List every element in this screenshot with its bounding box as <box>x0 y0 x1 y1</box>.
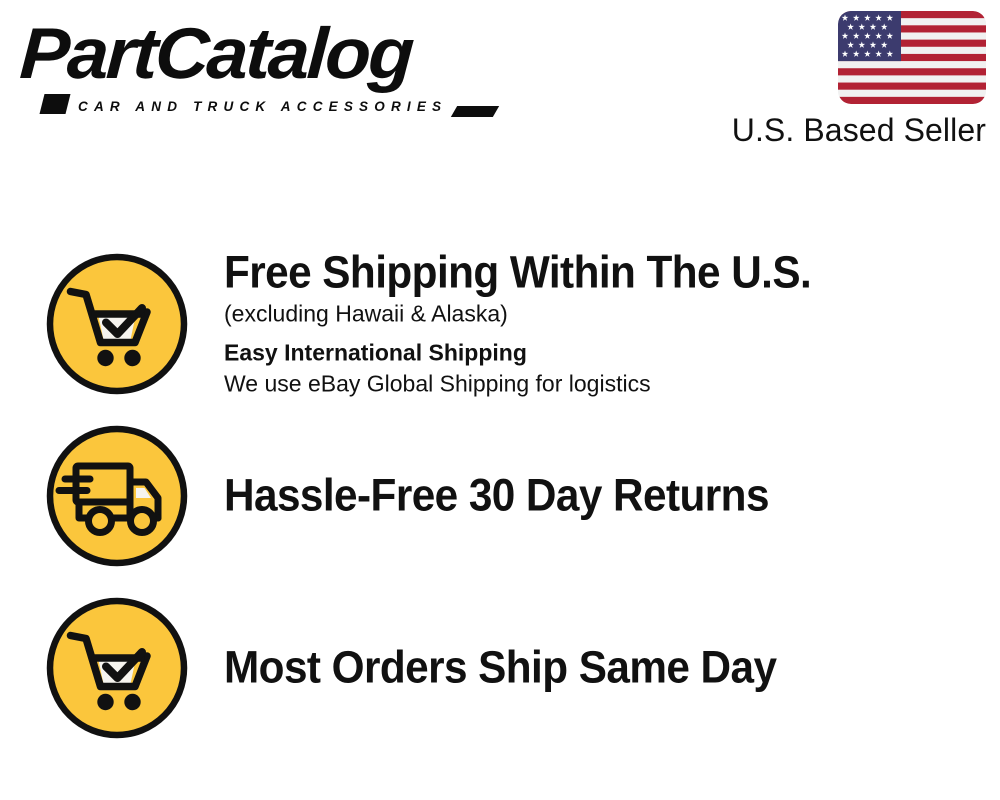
feature-row: Most Orders Ship Same Day <box>0 582 1000 754</box>
feature-text-block: Hassle-Free 30 Day Returns <box>224 472 984 521</box>
logo-descender-mark-right <box>451 106 499 117</box>
us-flag-icon <box>838 11 986 104</box>
shopping-cart-check-icon <box>43 250 191 398</box>
feature-text-block: Free Shipping Within The U.S. (excluding… <box>224 249 984 400</box>
feature-row: Free Shipping Within The U.S. (excluding… <box>0 238 1000 410</box>
feature-subline: (excluding Hawaii & Alaska) <box>224 298 984 328</box>
logo-descender-mark-left <box>40 94 71 114</box>
logo-tagline: CAR AND TRUCK ACCESSORIES <box>78 100 447 114</box>
feature-row: Hassle-Free 30 Day Returns <box>0 410 1000 582</box>
feature-headline: Most Orders Ship Same Day <box>224 644 938 693</box>
shopping-cart-check-icon <box>43 594 191 742</box>
logo-wordmark: PartCatalog <box>18 18 414 90</box>
feature-headline: Hassle-Free 30 Day Returns <box>224 472 938 521</box>
delivery-truck-icon <box>43 422 191 570</box>
brand-logo: PartCatalog CAR AND TRUCK ACCESSORIES <box>22 22 492 120</box>
feature-subline-emphasis: Easy International Shipping <box>224 338 984 368</box>
us-based-seller-label: U.S. Based Seller <box>732 113 986 148</box>
feature-headline: Free Shipping Within The U.S. <box>224 249 938 298</box>
feature-subline: We use eBay Global Shipping for logistic… <box>224 369 984 399</box>
banner-header: PartCatalog CAR AND TRUCK ACCESSORIES <box>0 0 1000 170</box>
feature-text-block: Most Orders Ship Same Day <box>224 644 984 693</box>
